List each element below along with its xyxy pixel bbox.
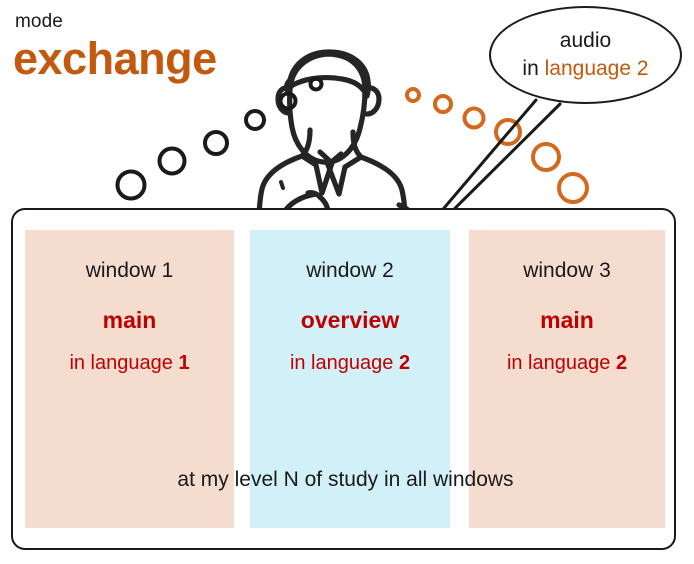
mode-value-exchange: exchange [13,36,217,81]
bubble-trail-left [118,79,322,199]
window-3-mode: main [469,309,665,332]
windows-panel: window 1 main in language 1 window 2 ove… [11,208,676,550]
window-1-title: window 1 [25,260,234,281]
window-1-language-prefix: in language [69,352,172,374]
speech-bubble-line-2-prefix: in [522,57,538,80]
window-3-title: window 3 [469,260,665,281]
window-1-mode: main [25,309,234,332]
window-column-1[interactable]: window 1 main in language 1 [25,230,234,528]
window-2-language-prefix: in language [290,352,393,374]
window-1-language-number: 1 [178,352,189,374]
window-2-language: in language 2 [250,353,450,373]
speech-bubble-line-1: audio [560,27,611,55]
window-3-language-prefix: in language [507,352,610,374]
speech-bubble-line-2: in language 2 [522,55,648,83]
window-3-language-number: 2 [616,352,627,374]
window-1-language: in language 1 [25,353,234,373]
speech-bubble-line-2-highlight: language 2 [545,57,649,80]
bubble-trail-right [407,89,587,202]
window-2-title: window 2 [250,260,450,281]
window-2-language-number: 2 [399,352,410,374]
window-column-3[interactable]: window 3 main in language 2 [469,230,665,528]
window-column-2[interactable]: window 2 overview in language 2 [250,230,450,528]
window-2-mode: overview [250,309,450,332]
window-3-language: in language 2 [469,353,665,373]
mode-label: mode [15,12,63,31]
audio-speech-bubble: audio in language 2 [489,6,682,104]
